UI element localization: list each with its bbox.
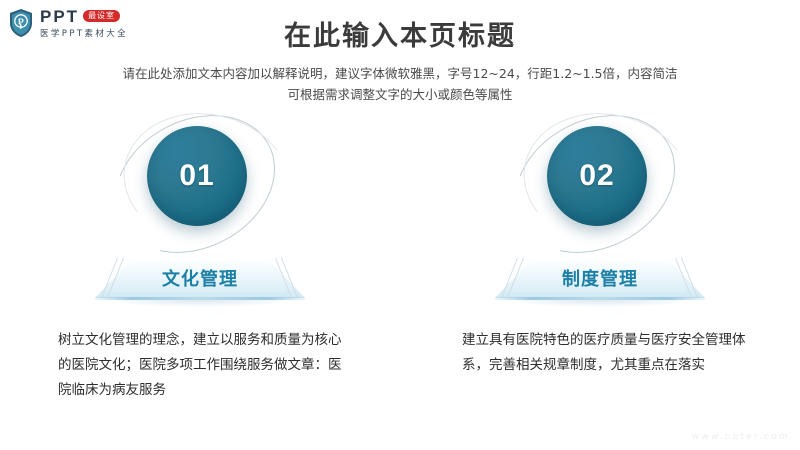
- site-watermark: www.ppter.com: [692, 432, 790, 442]
- number-circle[interactable]: 02: [547, 126, 647, 226]
- number-circle[interactable]: 01: [147, 126, 247, 226]
- subtitle-line-2: 可根据需求调整文字的大小或颜色等属性: [80, 84, 720, 105]
- number-circle-group-02: 02: [505, 118, 695, 250]
- plinth-shadow: [501, 300, 699, 307]
- slide-canvas: P PPT 最设室 医学PPT素材大全 在此输入本页标题 请在此处添加文本内容加…: [0, 0, 800, 450]
- subtitle-line-1: 请在此处添加文本内容加以解释说明，建议字体微软雅黑，字号12~24，行距1.2~…: [80, 63, 720, 84]
- label-plinth-01[interactable]: 文化管理: [95, 258, 305, 306]
- page-title: 在此输入本页标题: [0, 14, 800, 53]
- plinth-label-text: 文化管理: [95, 258, 305, 298]
- column-body-text: 建立具有医院特色的医疗质量与医疗安全管理体系，完善相关规章制度，尤其重点在落实: [462, 328, 752, 378]
- column-02: 02 制度管理 建立具有医院特色的医疗质量与医疗安全管理体系，完善相关规章制度，…: [400, 118, 800, 403]
- plinth-label-text: 制度管理: [495, 258, 705, 298]
- number-circle-group-01: 01: [105, 118, 295, 250]
- circle-number-label: 01: [179, 159, 214, 193]
- plinth-shadow: [101, 300, 299, 307]
- content-columns: 01 文化管理 树立文化管理的理念，建立以服务和质量为核心的医院文化；医院多项工…: [0, 118, 800, 403]
- circle-number-label: 02: [579, 159, 614, 193]
- column-01: 01 文化管理 树立文化管理的理念，建立以服务和质量为核心的医院文化；医院多项工…: [0, 118, 400, 403]
- label-plinth-02[interactable]: 制度管理: [495, 258, 705, 306]
- page-subtitle: 请在此处添加文本内容加以解释说明，建议字体微软雅黑，字号12~24，行距1.2~…: [80, 63, 720, 105]
- column-body-text: 树立文化管理的理念，建立以服务和质量为核心的医院文化；医院多项工作围绕服务做文章…: [58, 328, 348, 403]
